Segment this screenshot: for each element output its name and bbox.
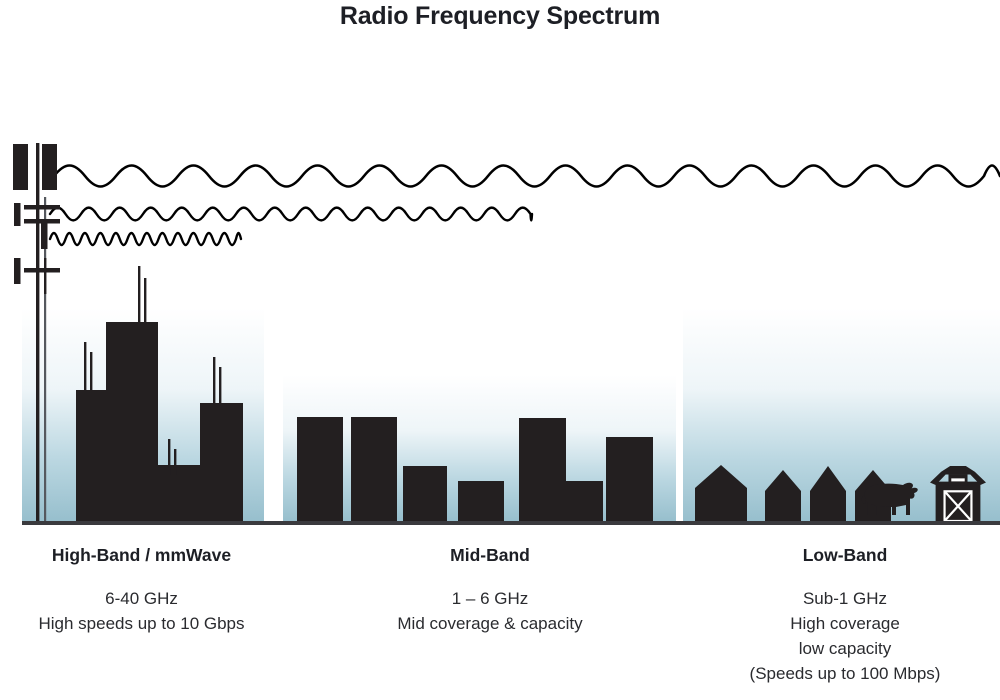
band-label-mid-band: Mid-Band 1 – 6 GHz Mid coverage & capaci… [340,545,640,636]
band-label-high-band: High-Band / mmWave 6-40 GHz High speeds … [0,545,283,636]
scene-panel-high-band [22,266,264,521]
building-silhouette [458,481,504,521]
band-title: High-Band / mmWave [0,545,283,565]
antenna-spire [168,439,170,475]
antenna-spire [144,278,146,322]
building-silhouette [106,322,158,521]
building-silhouette [351,417,397,521]
band-detail-speed: (Speeds up to 100 Mbps) [690,661,1000,686]
building-silhouette [76,390,106,521]
band-detail-frequency: 1 – 6 GHz [340,586,640,611]
scene-panel-low-band [683,308,1000,521]
ground-line [22,521,1000,525]
band-title: Mid-Band [340,545,640,565]
antenna-panel-right [42,144,57,190]
antenna-spire [219,367,221,403]
barn-body [936,482,981,521]
antenna-spire [213,357,215,403]
mid-band-wave [50,208,532,221]
antenna-panel-left [13,144,28,190]
band-detail-frequency: 6-40 GHz [0,586,283,611]
tower-strut [44,258,46,294]
antenna-spire [138,266,140,322]
tower-mast-left [36,143,39,521]
tower-crossarm [24,205,60,210]
band-detail-frequency: Sub-1 GHz [690,586,1000,611]
band-detail-coverage: High coverage [690,611,1000,636]
band-detail-capability: High speeds up to 10 Gbps [0,611,283,636]
antenna-spire [90,352,92,390]
building-silhouette [297,417,343,521]
antenna-spire [84,342,86,390]
building-silhouette [519,418,566,521]
building-silhouette [606,437,653,521]
band-label-row: High-Band / mmWave 6-40 GHz High speeds … [0,545,1000,700]
scene-panel-mid-band [283,375,676,521]
building-silhouette [403,466,447,521]
building-silhouette [163,475,205,521]
high-band-wave [50,233,241,245]
wave-group [50,166,1000,246]
antenna-panel-mid-right [41,222,48,249]
antenna-panel-mid-left [14,203,21,226]
antenna-panel-lower-left [14,258,21,284]
antenna-spire [174,449,176,475]
band-detail-capacity: low capacity [690,636,1000,661]
low-band-wave [54,166,1000,187]
band-label-low-band: Low-Band Sub-1 GHz High coverage low cap… [690,545,1000,686]
barn-hayloft-window [951,478,964,481]
tower-crossarm [24,268,60,273]
scene-panels [22,266,1000,525]
building-silhouette [566,481,603,521]
band-detail-capability: Mid coverage & capacity [340,611,640,636]
band-title: Low-Band [690,545,1000,565]
building-silhouette [200,403,243,521]
